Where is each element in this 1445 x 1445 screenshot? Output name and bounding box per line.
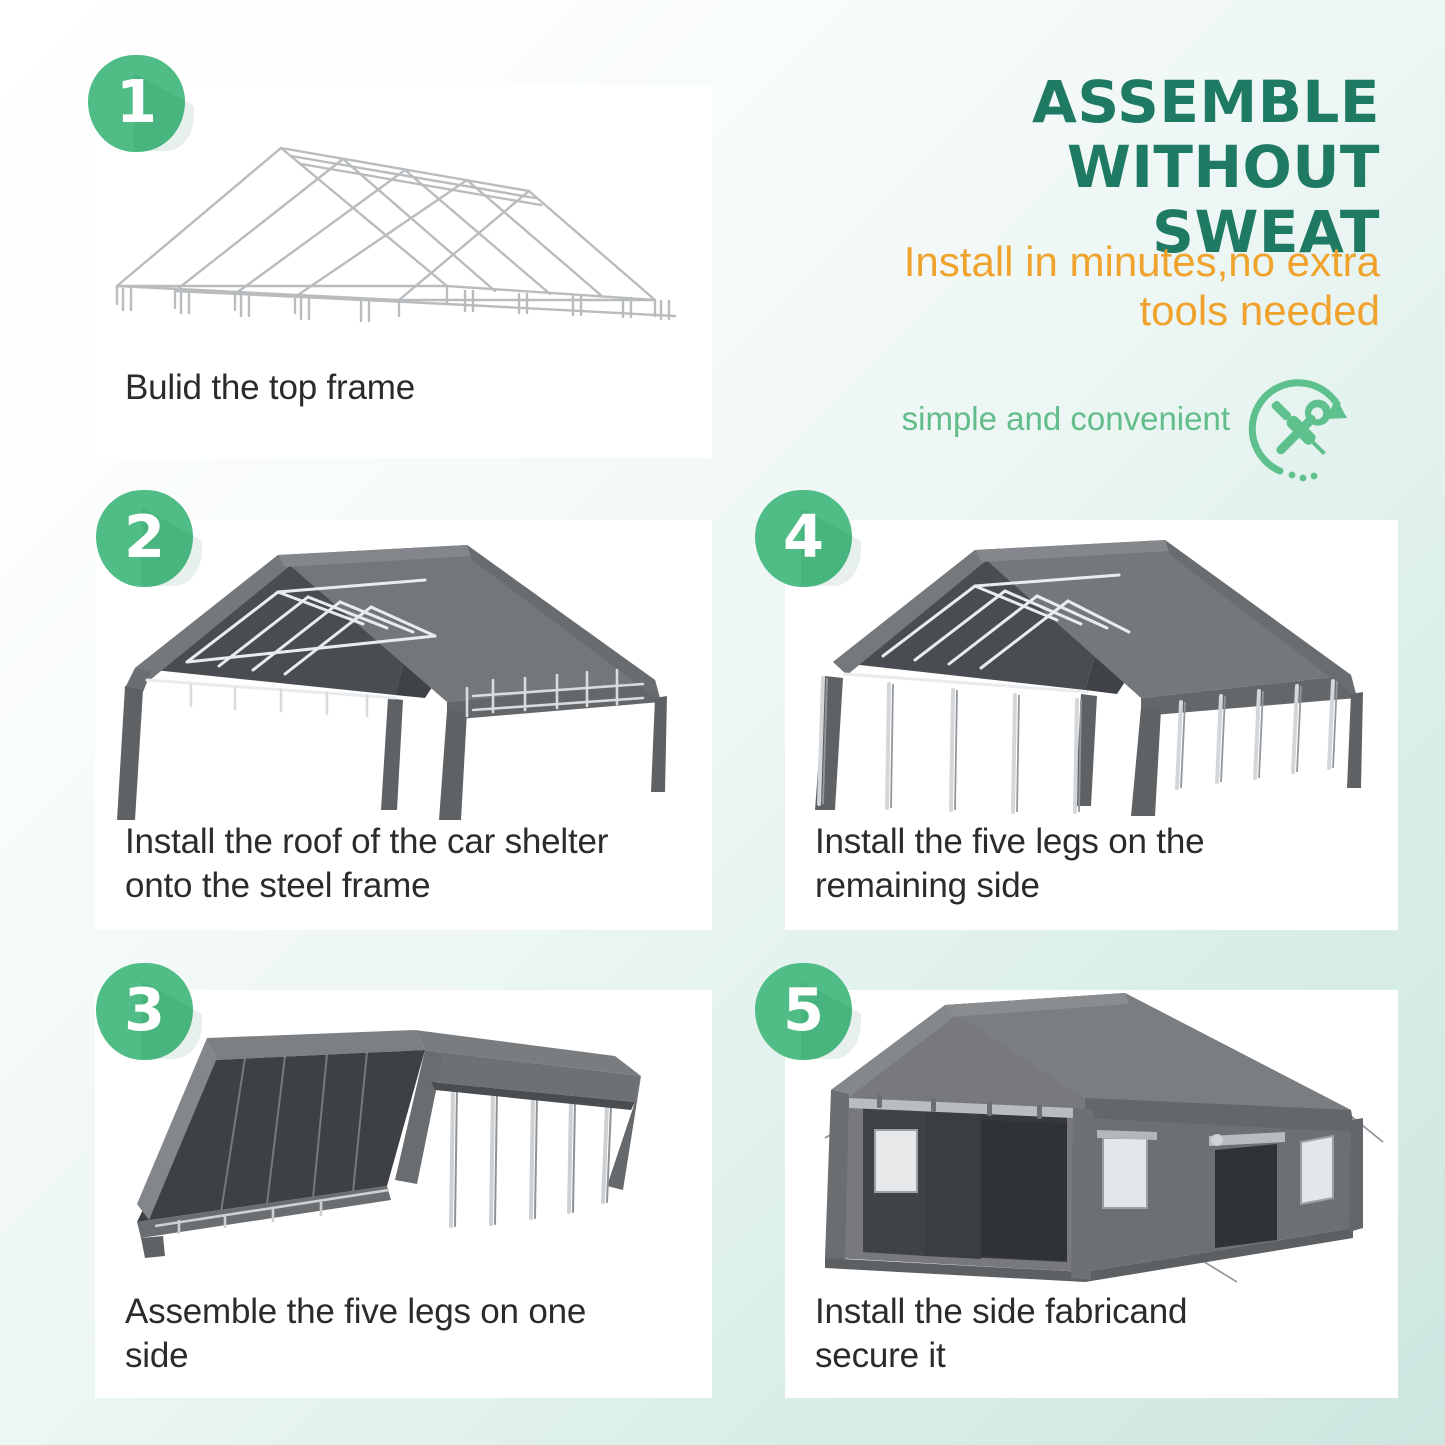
header-title-line1: ASSEMBLE WITHOUT	[720, 70, 1380, 200]
header-subtitle: Install in minutes,no extra tools needed	[780, 238, 1380, 335]
step-badge-3: 3	[96, 963, 193, 1060]
step-4-caption-line2: remaining side	[815, 864, 1380, 908]
step-2-caption: Install the roof of the car shelter onto…	[125, 820, 694, 908]
step-badge-4: 4	[755, 490, 852, 587]
step-2-caption-line1: Install the roof of the car shelter	[125, 820, 694, 864]
step-badge-1: 1	[88, 55, 185, 152]
tools-circle-arrow-icon	[1240, 370, 1360, 490]
step-badge-2: 2	[96, 490, 193, 587]
infographic-page: ASSEMBLE WITHOUT SWEAT Install in minute…	[0, 0, 1445, 1445]
step-badge-5: 5	[755, 963, 852, 1060]
header-subtitle-line2: tools needed	[780, 287, 1380, 336]
header-title: ASSEMBLE WITHOUT SWEAT	[720, 70, 1380, 265]
badge-number-3: 3	[96, 963, 193, 1055]
header-note: simple and convenient	[780, 400, 1230, 438]
step-1-caption: Bulid the top frame	[125, 366, 694, 410]
step-2-caption-line2: onto the steel frame	[125, 864, 694, 908]
step-card-5: Install the side fabricand secure it	[785, 990, 1398, 1398]
badge-number-1: 1	[88, 55, 185, 147]
step-1-caption-line1: Bulid the top frame	[125, 366, 694, 410]
step-5-caption-line2: secure it	[815, 1334, 1380, 1378]
step-4-illustration	[785, 520, 1398, 820]
step-card-4: Install the five legs on the remaining s…	[785, 520, 1398, 930]
step-card-1: Bulid the top frame	[95, 86, 712, 458]
badge-number-2: 2	[96, 490, 193, 582]
step-5-caption: Install the side fabricand secure it	[815, 1290, 1380, 1378]
badge-number-4: 4	[755, 490, 852, 582]
header-subtitle-line1: Install in minutes,no extra	[780, 238, 1380, 287]
step-5-illustration	[785, 990, 1398, 1290]
step-3-caption-line1: Assemble the five legs on one	[125, 1290, 694, 1334]
step-4-caption: Install the five legs on the remaining s…	[815, 820, 1380, 908]
header-block: ASSEMBLE WITHOUT SWEAT Install in minute…	[720, 70, 1380, 470]
step-3-caption: Assemble the five legs on one side	[125, 1290, 694, 1378]
badge-number-5: 5	[755, 963, 852, 1055]
step-4-caption-line1: Install the five legs on the	[815, 820, 1380, 864]
step-5-caption-line1: Install the side fabricand	[815, 1290, 1380, 1334]
step-3-caption-line2: side	[125, 1334, 694, 1378]
